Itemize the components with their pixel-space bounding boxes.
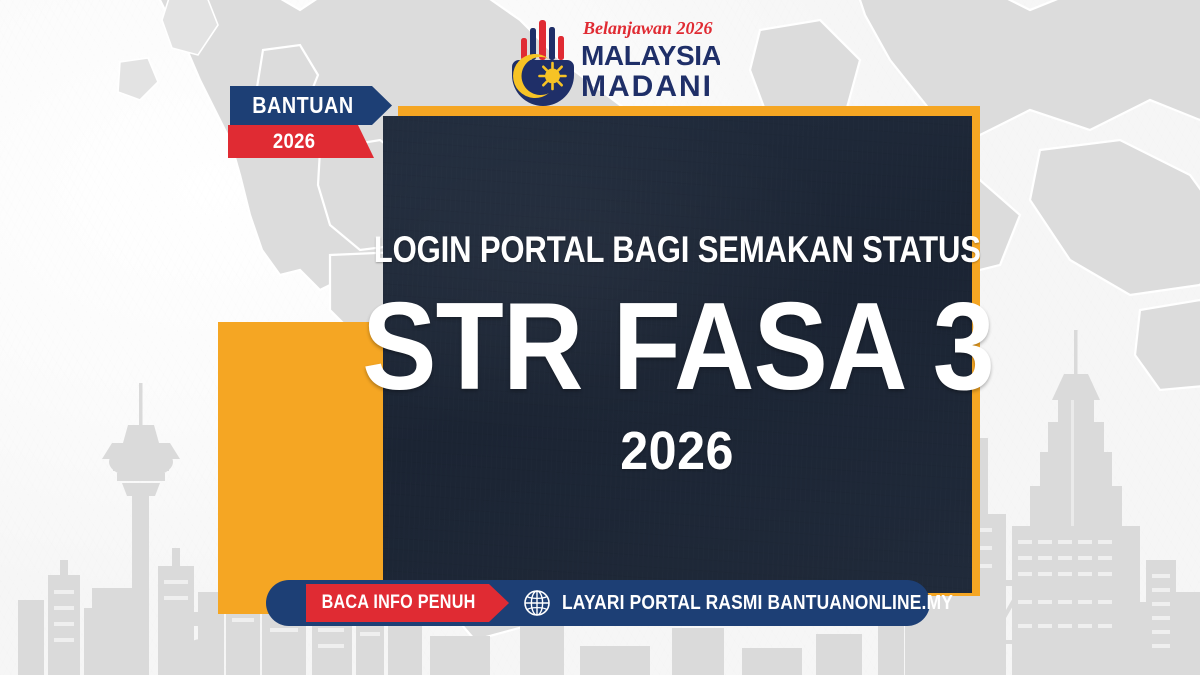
- logo-name-line-1: MALAYSIA: [581, 40, 720, 71]
- portal-url-label[interactable]: LAYARI PORTAL RASMI BANTUANONLINE.MY: [562, 580, 953, 626]
- footer-bar[interactable]: BACA INFO PENUH LAYARI PORTAL RASMI BANT…: [266, 580, 930, 626]
- headline-year: 2026: [621, 424, 735, 478]
- headline-title: STR FASA 3: [362, 290, 994, 404]
- baca-info-penuh-label: BACA INFO PENUH: [322, 592, 476, 614]
- malaysia-madani-emblem-icon: [512, 20, 574, 106]
- baca-info-penuh-button[interactable]: BACA INFO PENUH: [306, 584, 509, 622]
- logo-name-line-2: MADANI: [581, 70, 713, 103]
- malaysia-madani-logo: Belanjawan 2026 MALAYSIA MADANI: [505, 14, 720, 106]
- headline-group: LOGIN PORTAL BAGI SEMAKAN STATUS STR FAS…: [383, 116, 972, 593]
- logo-svg: Belanjawan 2026 MALAYSIA MADANI: [505, 14, 720, 106]
- headline-kicker: LOGIN PORTAL BAGI SEMAKAN STATUS: [374, 231, 981, 268]
- ribbon-year: 2026: [228, 125, 374, 158]
- ribbon-year-label: 2026: [273, 130, 316, 154]
- logo-script-text: Belanjawan 2026: [582, 18, 713, 38]
- ribbon-bantuan: BANTUAN: [230, 86, 392, 125]
- poster-canvas: Belanjawan 2026 MALAYSIA MADANI LOGIN PO…: [0, 0, 1200, 675]
- globe-icon: [523, 589, 551, 617]
- ribbon-bantuan-label: BANTUAN: [252, 92, 353, 119]
